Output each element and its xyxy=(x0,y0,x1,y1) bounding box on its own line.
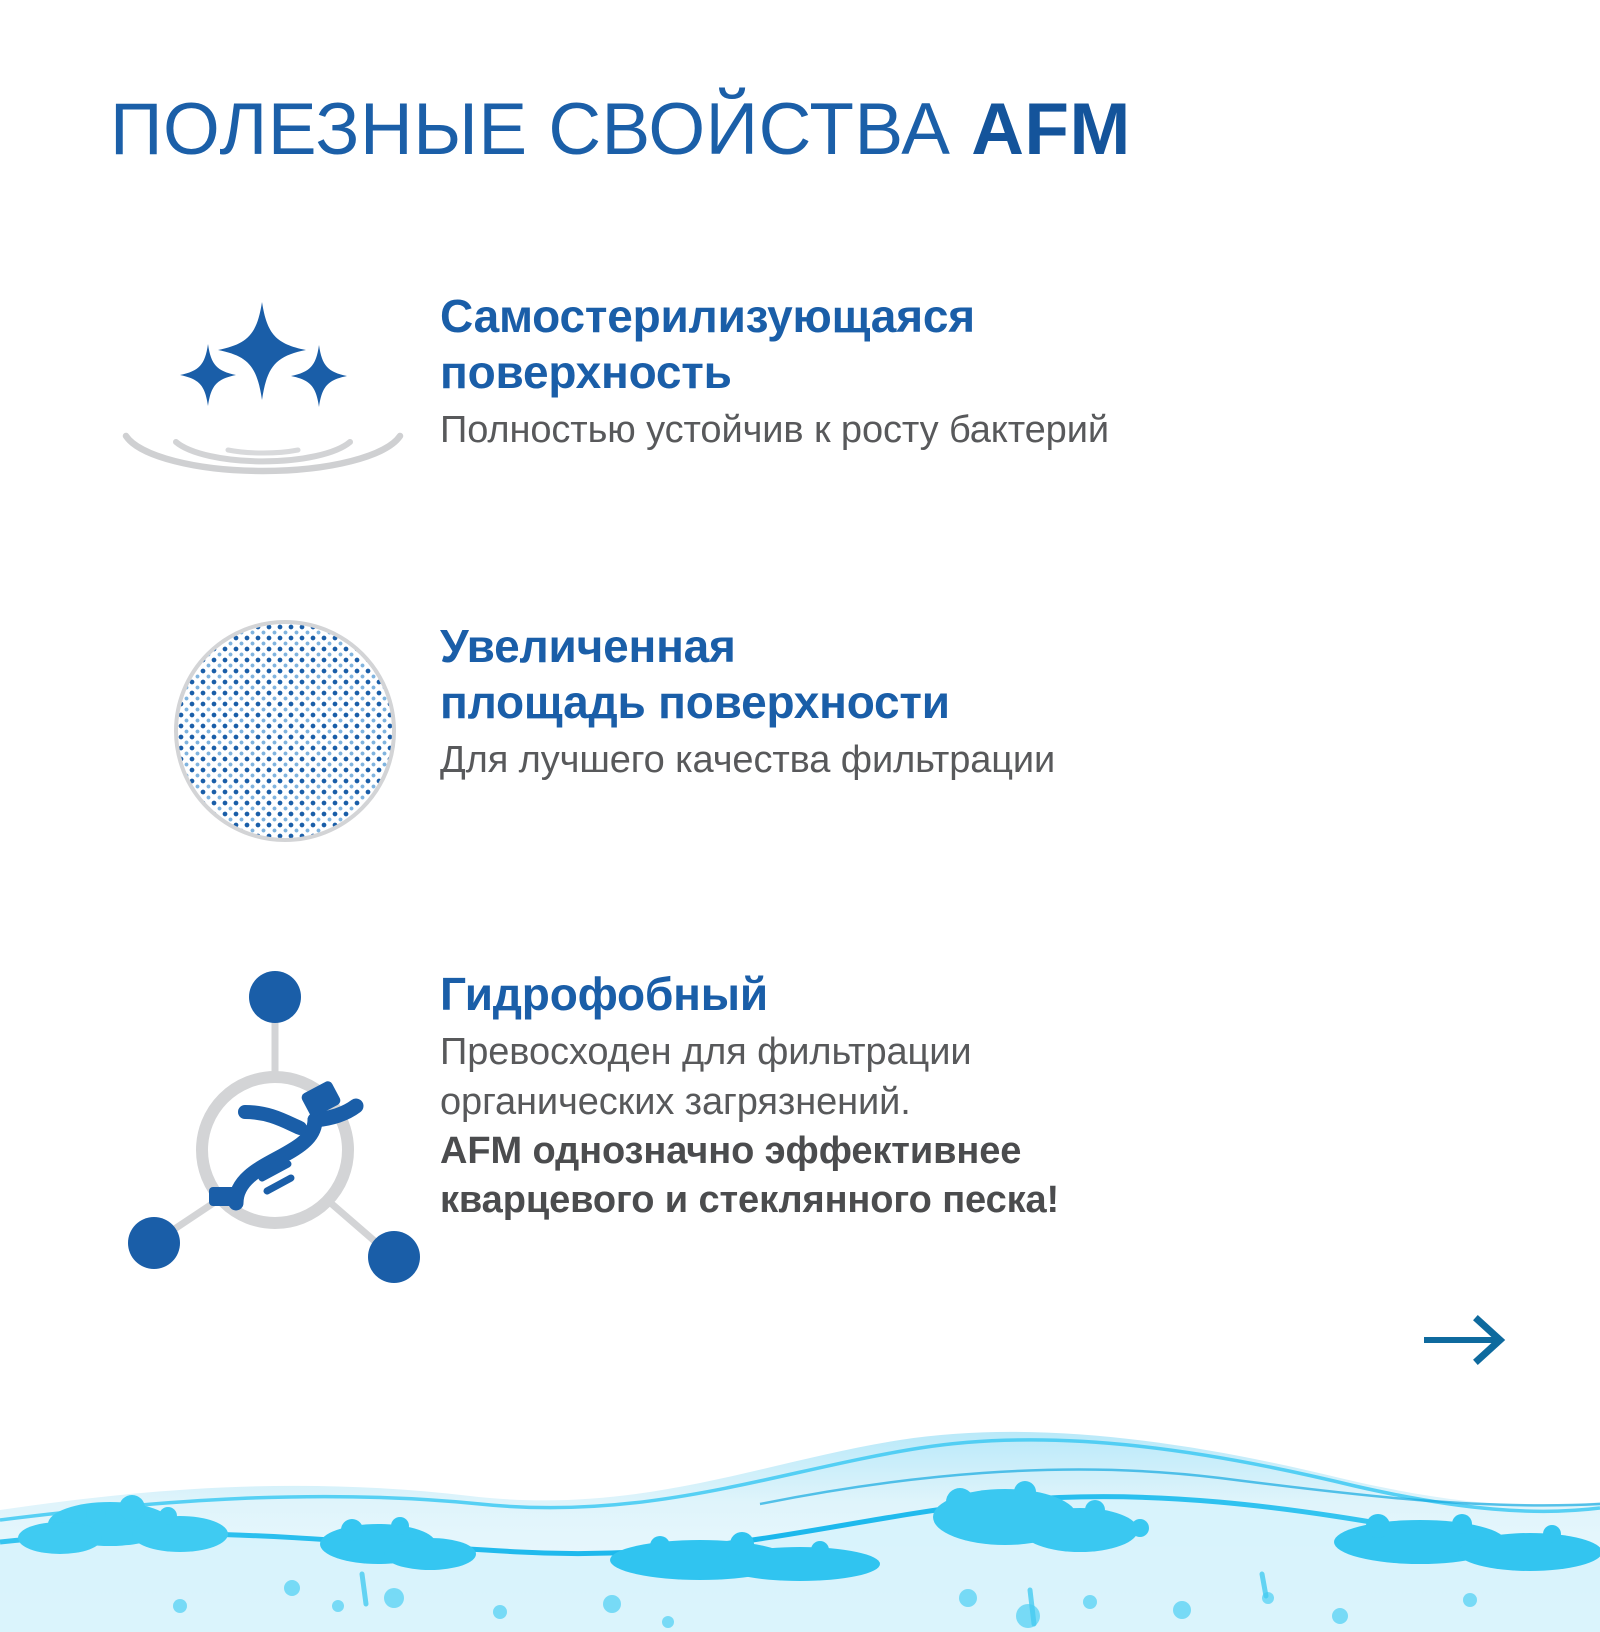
feature-text-block: Увеличенная площадь поверхности Для лучш… xyxy=(440,612,1360,786)
molecule-dna-icon xyxy=(110,960,440,1290)
feature-heading-line2: площадь поверхности xyxy=(440,674,1360,730)
feature-body-line1: Превосходен для фильтрации xyxy=(440,1028,1360,1077)
feature-text-block: Самостерилизующаяся поверхность Полность… xyxy=(440,282,1360,456)
sparkle-large-icon xyxy=(218,302,306,400)
node-bottom-right xyxy=(368,1231,420,1283)
feature-heading-line1: Гидрофобный xyxy=(440,966,1360,1022)
feature-item-hydrophobic: Гидрофобный Превосходен для фильтрации о… xyxy=(0,960,1600,1290)
slide-root: ПОЛЕЗНЫЕ СВОЙСТВА AFM xyxy=(0,0,1600,1632)
sparkle-small-right-icon xyxy=(291,345,347,407)
feature-heading-line1: Самостерилизующаяся xyxy=(440,288,1360,344)
ripple-inner xyxy=(228,450,298,453)
feature-icon-container xyxy=(110,612,440,852)
molecule-dna-svg xyxy=(110,960,440,1290)
page-title-prefix: ПОЛЕЗНЫЕ СВОЙСТВА xyxy=(110,89,971,170)
feature-body: Полностью устойчив к росту бактерий xyxy=(440,406,1360,455)
sparkle-ripple-icon xyxy=(110,282,410,502)
next-arrow-svg xyxy=(1418,1312,1510,1368)
page-title: ПОЛЕЗНЫЕ СВОЙСТВА AFM xyxy=(110,92,1131,169)
sparkle-small-left-icon xyxy=(180,344,236,406)
page-title-accent: AFM xyxy=(971,89,1131,170)
feature-body: Для лучшего качества фильтрации xyxy=(440,736,1360,785)
sparkle-ripple-svg xyxy=(110,282,410,502)
feature-heading-line1: Увеличенная xyxy=(440,618,1360,674)
feature-body-strong-line1: AFM однозначно эффективнее xyxy=(440,1127,1360,1176)
feature-heading: Самостерилизующаяся поверхность xyxy=(440,288,1360,400)
feature-icon-container xyxy=(110,282,440,522)
feature-text-block: Гидрофобный Превосходен для фильтрации о… xyxy=(440,960,1360,1226)
node-top xyxy=(249,971,301,1023)
node-bottom-left xyxy=(128,1217,180,1269)
feature-heading: Увеличенная площадь поверхности xyxy=(440,618,1360,730)
water-wave-svg xyxy=(0,1392,1600,1632)
feature-item-self-sterilizing: Самостерилизующаяся поверхность Полность… xyxy=(0,282,1600,522)
porous-surface-icon xyxy=(174,620,396,842)
feature-body-line2: органических загрязнений. xyxy=(440,1078,1360,1127)
water-wave-graphic xyxy=(0,1392,1600,1632)
feature-body: Превосходен для фильтрации органических … xyxy=(440,1028,1360,1226)
feature-heading-line2: поверхность xyxy=(440,344,1360,400)
feature-body-strong-line2: кварцевого и стеклянного песка! xyxy=(440,1176,1360,1225)
dna-tick-left xyxy=(209,1187,241,1206)
feature-icon-container xyxy=(110,960,440,1290)
water-layers xyxy=(0,1432,1600,1632)
feature-item-surface-area: Увеличенная площадь поверхности Для лучш… xyxy=(0,612,1600,852)
feature-heading: Гидрофобный xyxy=(440,966,1360,1022)
next-arrow-icon[interactable] xyxy=(1418,1312,1510,1368)
